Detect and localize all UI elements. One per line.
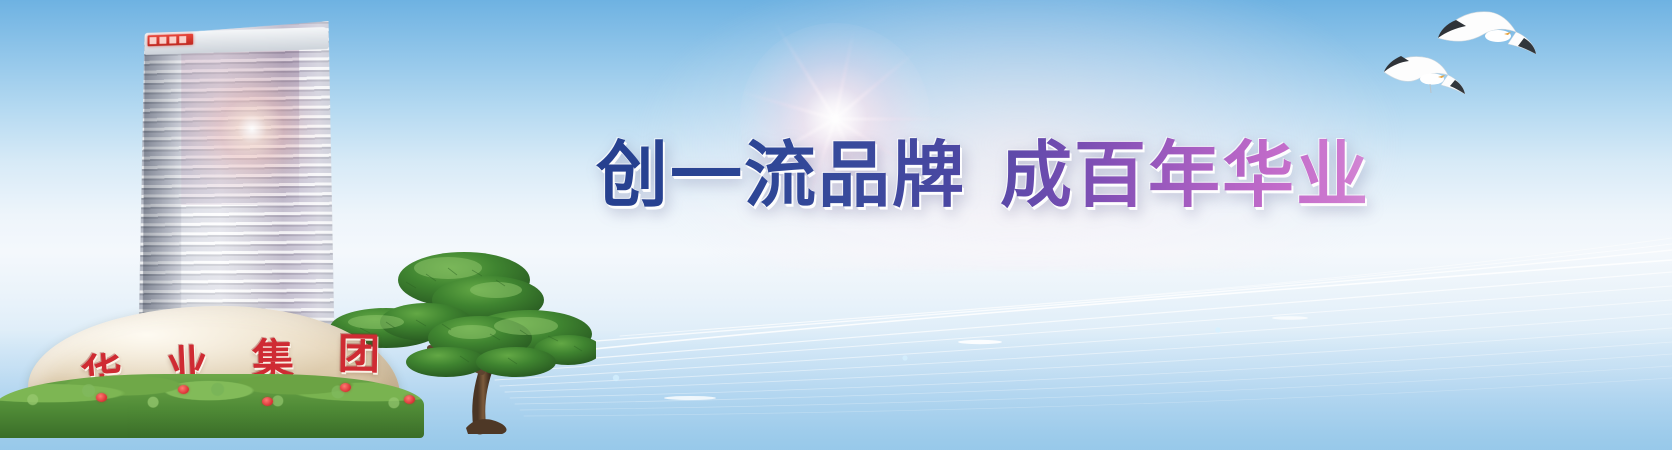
tower-left-glazing	[143, 35, 182, 337]
office-tower	[139, 21, 335, 339]
slogan-part-2: 成百年华业	[1000, 139, 1370, 211]
rooftop-logo-sign	[148, 34, 194, 47]
sun-ray	[835, 118, 955, 120]
red-flower-icon	[96, 393, 107, 402]
slogan-part-1: 创一流品牌	[596, 139, 966, 211]
hedge-shrubs	[0, 374, 424, 438]
stone-char-4: 团	[338, 320, 381, 382]
seagull-icon	[1384, 56, 1465, 94]
red-flower-icon	[178, 385, 189, 394]
tower-glass-reflection	[181, 40, 298, 205]
company-hero-banner: 华 业 集 团 创一流品牌 成百年华业	[0, 0, 1672, 450]
red-flower-icon	[262, 397, 273, 406]
red-flower-icon	[340, 383, 351, 392]
seagull-icon	[1438, 12, 1536, 54]
red-flower-icon	[404, 395, 415, 404]
slogan-text: 创一流品牌 成百年华业	[596, 132, 1370, 218]
seagulls-group	[1380, 8, 1550, 112]
